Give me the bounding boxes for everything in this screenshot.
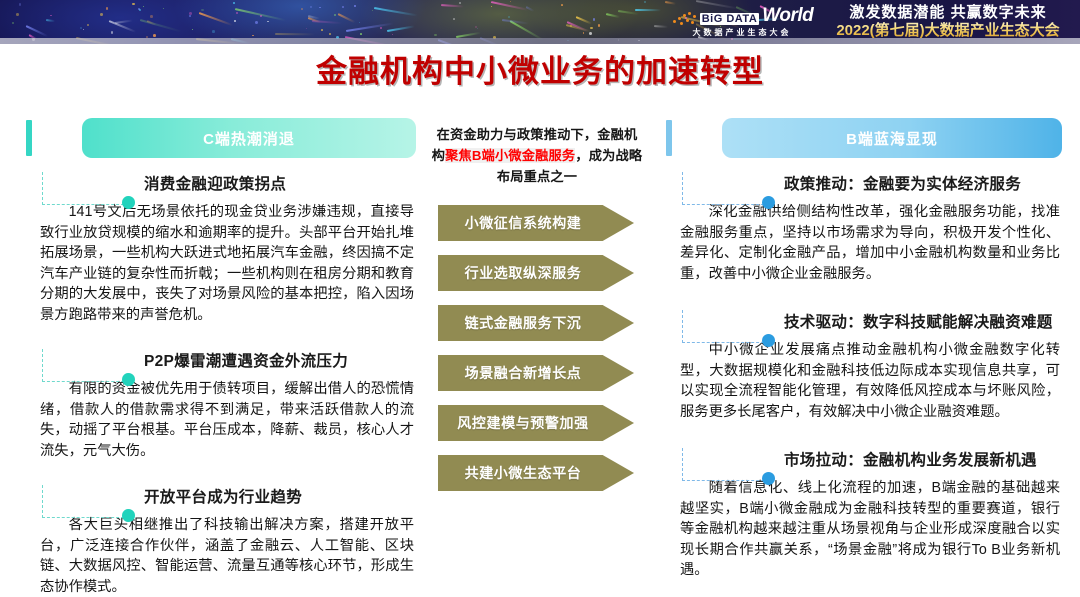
center-lead-text: 在资金助力与政策推动下，金融机构聚焦B端小微金融服务，成为战略布局重点之一 xyxy=(430,124,644,187)
right-header-label: B端蓝海显现 xyxy=(846,128,938,149)
bracket-decoration xyxy=(682,172,769,205)
bullet-dot-icon xyxy=(762,334,775,347)
item-body: 各大巨头相继推出了科技输出解决方案，搭建开放平台，广泛连接合作伙伴，涵盖了金融云… xyxy=(40,515,416,597)
left-header-label: C端热潮消退 xyxy=(203,128,295,149)
item-body: 随着信息化、线上化流程的加速，B端金融的基础越来越坚实，B端小微金融成为金融科技… xyxy=(680,478,1062,581)
bracket-decoration xyxy=(682,448,769,481)
right-column: B端蓝海显现 政策推动：金融要为实体经济服务 深化金融供给侧结构性改革，强化金融… xyxy=(666,118,1062,581)
left-column: C端热潮消退 消费金融迎政策拐点 141号文后无场景依托的现金贷业务涉嫌违规，直… xyxy=(26,118,416,597)
item-body: 有限的资金被优先用于债转项目，缓解出借人的恐慌情绪，借款人的借款需求得不到满足，… xyxy=(40,379,416,461)
item-body: 深化金融供给侧结构性改革，强化金融服务功能，找准金融服务重点，坚持以市场需求为导… xyxy=(680,202,1062,284)
logo-world-text: World xyxy=(762,6,813,25)
right-header-pill: B端蓝海显现 xyxy=(722,118,1062,158)
slide-title-area: 金融机构中小微业务的加速转型 xyxy=(0,44,1080,92)
left-header-accent-bar xyxy=(26,120,32,156)
chevron-item[interactable]: 场景融合新增长点 xyxy=(438,355,634,391)
bracket-decoration xyxy=(42,172,129,205)
bullet-dot-icon xyxy=(122,509,135,522)
item-body: 141号文后无场景依托的现金贷业务涉嫌违规，直接导致行业放贷规模的缩水和逾期率的… xyxy=(40,202,416,325)
top-banner: BiG DATA World 大数据产业生态大会 激发数据潜能 共赢数字未来 2… xyxy=(0,0,1080,44)
chevron-item[interactable]: 行业选取纵深服务 xyxy=(438,255,634,291)
page-title: 金融机构中小微业务的加速转型 xyxy=(316,46,764,91)
bullet-dot-icon xyxy=(122,373,135,386)
list-item: 市场拉动：金融机构业务发展新机遇 随着信息化、线上化流程的加速，B端金融的基础越… xyxy=(666,446,1062,581)
chevron-label: 链式金融服务下沉 xyxy=(465,313,582,333)
center-lead-highlight: 聚焦B端小微金融服务 xyxy=(445,148,575,163)
logo-dots-icon xyxy=(671,11,697,25)
logo-bigdata-text: BiG DATA xyxy=(700,13,760,25)
left-header-pill: C端热潮消退 xyxy=(82,118,416,158)
bracket-decoration xyxy=(42,349,129,382)
chevron-label: 场景融合新增长点 xyxy=(465,363,582,383)
item-body: 中小微企业发展痛点推动金融机构小微金融数字化转型，大数据规模化和金融科技低边际成… xyxy=(680,340,1062,422)
chevron-label: 共建小微生态平台 xyxy=(465,463,582,483)
right-column-header: B端蓝海显现 xyxy=(666,118,1062,160)
banner-slogan: 激发数据潜能 共赢数字未来 2022(第七届)大数据产业生态大会 xyxy=(826,1,1070,43)
bracket-decoration xyxy=(682,310,769,343)
list-item: P2P爆雷潮遭遇资金外流压力 有限的资金被优先用于债转项目，缓解出借人的恐慌情绪… xyxy=(26,347,416,461)
bullet-dot-icon xyxy=(762,472,775,485)
center-column: 在资金助力与政策推动下，金融机构聚焦B端小微金融服务，成为战略布局重点之一 小微… xyxy=(424,124,650,505)
bullet-dot-icon xyxy=(122,196,135,209)
chevron-item[interactable]: 风控建模与预警加强 xyxy=(438,405,634,441)
chevron-label: 风控建模与预警加强 xyxy=(457,413,588,433)
list-item: 开放平台成为行业趋势 各大巨头相继推出了科技输出解决方案，搭建开放平台，广泛连接… xyxy=(26,483,416,597)
slogan-line-2: 2022(第七届)大数据产业生态大会 xyxy=(836,22,1059,40)
chevron-item[interactable]: 共建小微生态平台 xyxy=(438,455,634,491)
slogan-line-1: 激发数据潜能 共赢数字未来 xyxy=(849,4,1046,21)
bracket-decoration xyxy=(42,485,129,518)
list-item: 技术驱动：数字科技赋能解决融资难题 中小微企业发展痛点推动金融机构小微金融数字化… xyxy=(666,308,1062,422)
chevron-label: 小微征信系统构建 xyxy=(465,213,582,233)
chevron-label: 行业选取纵深服务 xyxy=(465,263,582,283)
right-header-accent-bar xyxy=(666,120,672,156)
left-column-header: C端热潮消退 xyxy=(26,118,416,160)
chevron-item[interactable]: 小微征信系统构建 xyxy=(438,205,634,241)
bigdata-world-logo: BiG DATA World 大数据产业生态大会 xyxy=(662,2,822,42)
list-item: 消费金融迎政策拐点 141号文后无场景依托的现金贷业务涉嫌违规，直接导致行业放贷… xyxy=(26,170,416,325)
bullet-dot-icon xyxy=(762,196,775,209)
list-item: 政策推动：金融要为实体经济服务 深化金融供给侧结构性改革，强化金融服务功能，找准… xyxy=(666,170,1062,284)
chevron-item[interactable]: 链式金融服务下沉 xyxy=(438,305,634,341)
logo-chinese-text: 大数据产业生态大会 xyxy=(693,27,792,38)
